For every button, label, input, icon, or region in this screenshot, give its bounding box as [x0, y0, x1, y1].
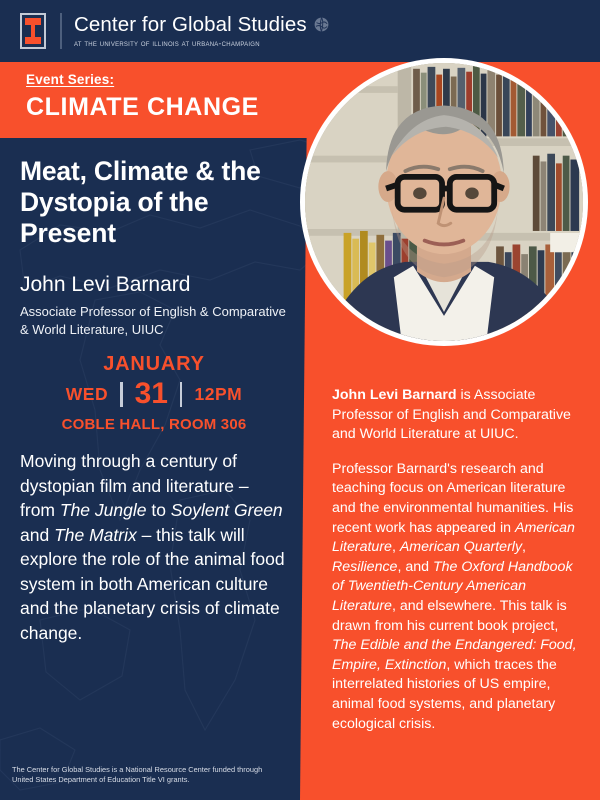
abstract-title-the-jungle: The Jungle: [60, 500, 147, 520]
event-time: 12PM: [194, 384, 242, 405]
event-date-row: WED 31 12PM: [20, 379, 288, 409]
speaker-role: Associate Professor of English & Compara…: [20, 303, 288, 338]
date-divider-left: [120, 382, 123, 407]
bio-journal-american-quarterly: American Quarterly: [400, 539, 522, 555]
bio-paragraph-1: John Levi Barnard is Associate Professor…: [332, 386, 586, 445]
event-venue: COBLE HALL, ROOM 306: [20, 416, 288, 433]
speaker-portrait-frame: [300, 58, 588, 346]
date-divider-right: [180, 382, 183, 407]
bio-paragraph-2: Professor Barnard's research and teachin…: [332, 460, 586, 734]
event-series-kicker: Event Series:: [26, 72, 114, 87]
event-month: JANUARY: [20, 354, 288, 374]
event-date-block: JANUARY WED 31 12PM COBLE HALL, ROOM 306: [20, 354, 288, 433]
bio-p2-b2: ,: [522, 539, 526, 555]
site-header: Center for Global Studies At the Univers…: [0, 0, 600, 62]
header-title-text: Center for Global Studies: [74, 14, 307, 36]
abstract-title-the-matrix: The Matrix: [54, 525, 137, 545]
speaker-name: John Levi Barnard: [20, 273, 288, 296]
header-divider: [60, 13, 62, 49]
bio-p2-b1: ,: [392, 539, 400, 555]
event-series-title: CLIMATE CHANGE: [26, 95, 312, 120]
event-series-band: Event Series: CLIMATE CHANGE: [0, 62, 312, 138]
event-poster: Center for Global Studies At the Univers…: [0, 0, 600, 800]
bio-p2-b3: , and: [397, 559, 433, 575]
speaker-bio: John Levi Barnard is Associate Professor…: [318, 386, 600, 734]
event-day-number: 31: [135, 379, 168, 409]
event-day-of-week: WED: [66, 384, 108, 405]
funding-footnote: The Center for Global Studies is a Natio…: [12, 765, 267, 786]
globe-icon: [314, 17, 329, 32]
abstract-part-2: to: [146, 500, 170, 520]
bio-journal-resilience: Resilience: [332, 559, 397, 575]
header-title: Center for Global Studies: [74, 14, 329, 36]
speaker-portrait-image: [305, 63, 583, 341]
talk-abstract: Moving through a century of dystopian fi…: [20, 449, 288, 645]
abstract-part-3: and: [20, 525, 54, 545]
left-content-column: Meat, Climate & the Dystopia of the Pres…: [0, 138, 306, 645]
header-subtitle: At the University of Illinois at Urbana-…: [74, 38, 329, 48]
abstract-title-soylent-green: Soylent Green: [171, 500, 283, 520]
bio-speaker-name: John Levi Barnard: [332, 387, 457, 403]
illinois-block-i-icon: [20, 13, 46, 49]
talk-title: Meat, Climate & the Dystopia of the Pres…: [20, 156, 288, 249]
